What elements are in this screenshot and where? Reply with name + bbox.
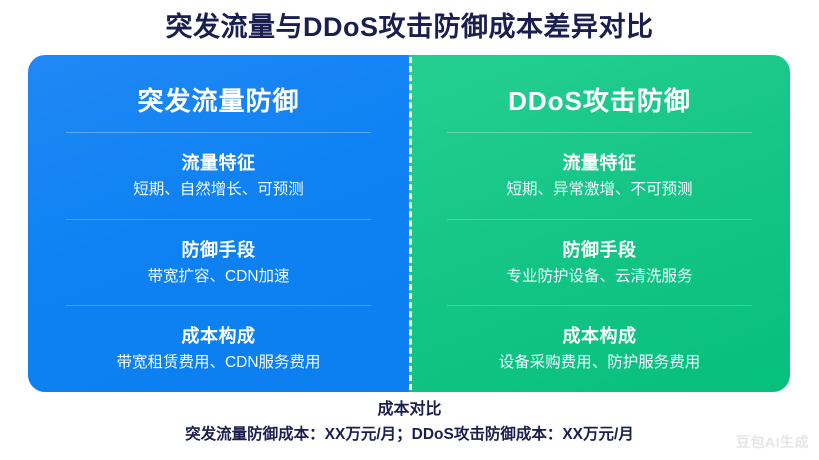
section-label: 成本构成 (182, 323, 256, 349)
panel-right-header: DDoS攻击防御 (409, 66, 790, 132)
panel-divider-dashed (409, 57, 412, 390)
infographic-page: 突发流量与DDoS攻击防御成本差异对比 突发流量防御 流量特征 短期、自然增长、… (0, 0, 819, 460)
watermark-label: 豆包AI生成 (736, 432, 809, 452)
panel-right-section-defense: 防御手段 专业防护设备、云清洗服务 (409, 220, 790, 306)
panel-left-header: 突发流量防御 (28, 66, 409, 132)
section-desc: 带宽扩容、CDN加速 (147, 265, 289, 289)
section-desc: 短期、异常激增、不可预测 (506, 178, 692, 202)
panel-right-body: 流量特征 短期、异常激增、不可预测 防御手段 专业防护设备、云清洗服务 成本构成… (409, 133, 790, 392)
panel-right-section-cost: 成本构成 设备采购费用、防护服务费用 (409, 306, 790, 392)
section-label: 流量特征 (563, 150, 637, 176)
panel-right-section-traffic: 流量特征 短期、异常激增、不可预测 (409, 133, 790, 219)
section-label: 防御手段 (182, 237, 256, 263)
footer-title: 成本对比 (0, 398, 819, 421)
panel-ddos-defense: DDoS攻击防御 流量特征 短期、异常激增、不可预测 防御手段 专业防护设备、云… (409, 55, 790, 392)
section-desc: 带宽租赁费用、CDN服务费用 (116, 351, 320, 375)
page-title: 突发流量与DDoS攻击防御成本差异对比 (0, 8, 819, 46)
panel-left-body: 流量特征 短期、自然增长、可预测 防御手段 带宽扩容、CDN加速 成本构成 带宽… (28, 133, 409, 392)
section-desc: 设备采购费用、防护服务费用 (499, 351, 701, 375)
section-desc: 专业防护设备、云清洗服务 (506, 265, 692, 289)
section-desc: 短期、自然增长、可预测 (133, 178, 304, 202)
panel-burst-traffic: 突发流量防御 流量特征 短期、自然增长、可预测 防御手段 带宽扩容、CDN加速 … (28, 55, 409, 392)
section-label: 流量特征 (182, 150, 256, 176)
footer-cost-line: 突发流量防御成本：XX万元/月；DDoS攻击防御成本：XX万元/月 (0, 423, 819, 447)
section-label: 成本构成 (563, 323, 637, 349)
panel-left-section-defense: 防御手段 带宽扩容、CDN加速 (28, 220, 409, 306)
panel-left-section-cost: 成本构成 带宽租赁费用、CDN服务费用 (28, 306, 409, 392)
section-label: 防御手段 (563, 237, 637, 263)
panel-left-section-traffic: 流量特征 短期、自然增长、可预测 (28, 133, 409, 219)
footer-summary: 成本对比 突发流量防御成本：XX万元/月；DDoS攻击防御成本：XX万元/月 (0, 398, 819, 447)
